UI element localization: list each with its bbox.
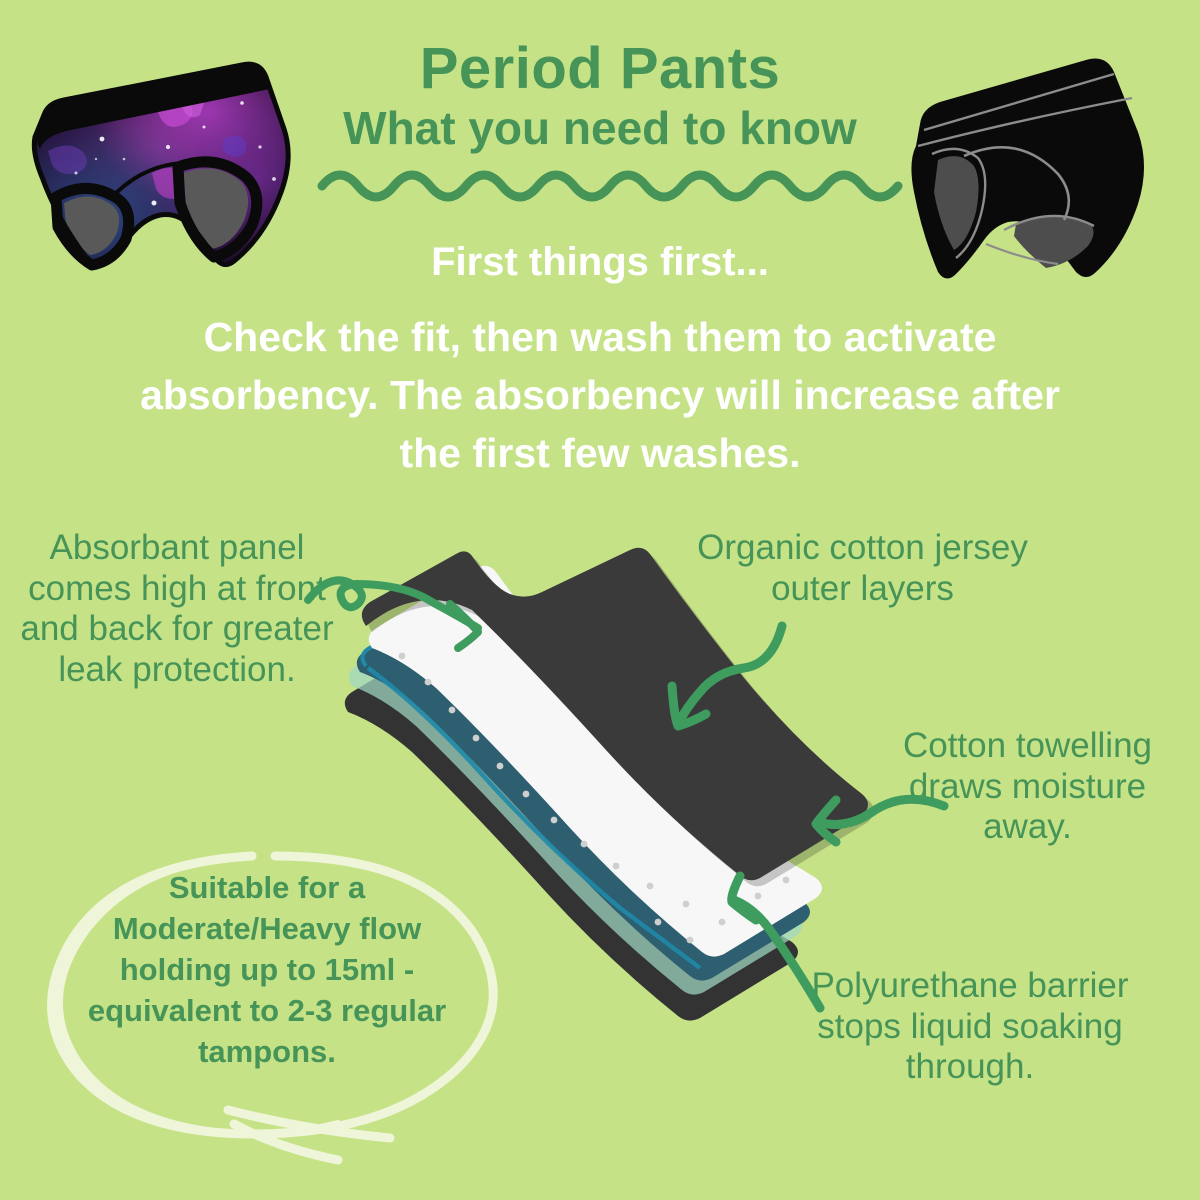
wavy-arrow-down-left-icon (672, 626, 782, 726)
curved-arrow-up-left-icon (732, 876, 820, 1008)
infographic-poster: Period Pants What you need to know First… (0, 0, 1200, 1200)
wavy-arrow-left-icon (816, 799, 944, 842)
decorative-arrow-layer (0, 0, 1200, 1200)
wavy-underline-icon (322, 175, 898, 197)
curly-loop-arrow-right-icon (308, 580, 478, 648)
